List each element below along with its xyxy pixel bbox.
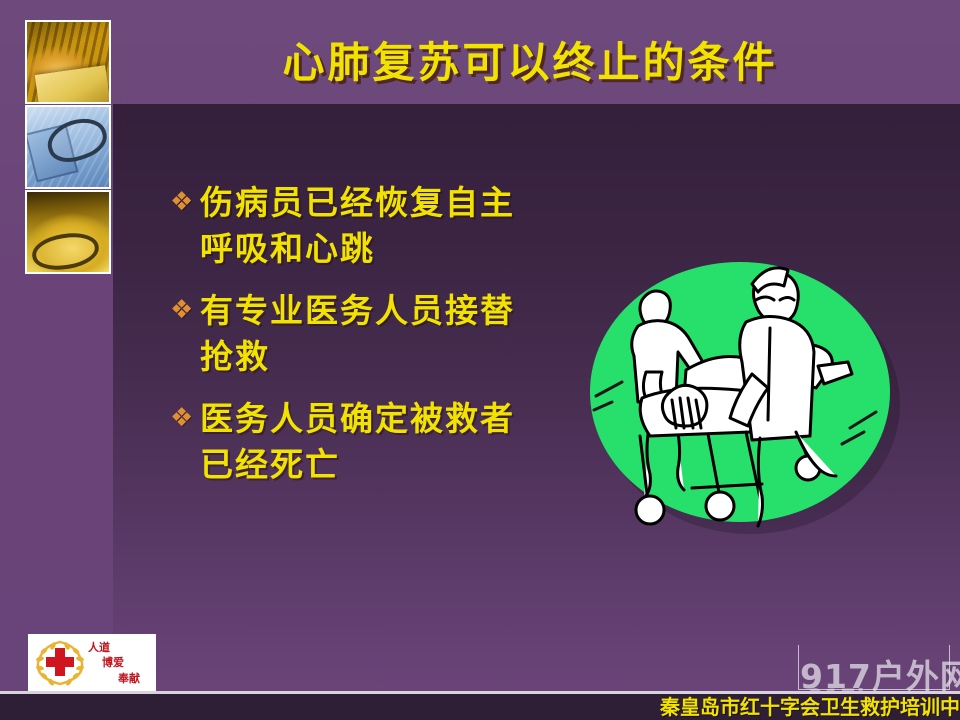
slide-title: 心肺复苏可以终止的条件 bbox=[130, 40, 930, 86]
red-cross-society-logo: 人道 博爱 奉献 bbox=[28, 634, 156, 692]
calculator-glasses-photo bbox=[27, 107, 109, 187]
list-item: ❖ 伤病员已经恢复自主呼吸和心跳 bbox=[170, 180, 530, 272]
logo-motto-line-1: 人道 bbox=[88, 642, 110, 653]
presentation-slide: 心肺复苏可以终止的条件 ❖ 伤病员已经恢复自主呼吸和心跳 ❖ 有专业医务人员接替… bbox=[0, 0, 960, 720]
medics-pushing-gurney-illustration bbox=[580, 248, 900, 538]
logo-motto-line-3: 奉献 bbox=[118, 673, 140, 684]
bullet-text: 伤病员已经恢复自主呼吸和心跳 bbox=[200, 180, 530, 272]
logo-motto-line-2: 博爱 bbox=[102, 657, 124, 668]
gurney-figures-drawing bbox=[580, 248, 900, 538]
diamond-bullet-icon: ❖ bbox=[170, 396, 200, 440]
thumbnail-writing-hand bbox=[25, 190, 111, 274]
diamond-bullet-icon: ❖ bbox=[170, 180, 200, 224]
logo-motto: 人道 博爱 奉献 bbox=[86, 640, 154, 688]
diamond-bullet-icon: ❖ bbox=[170, 288, 200, 332]
list-item: ❖ 有专业医务人员接替抢救 bbox=[170, 288, 530, 380]
thumbnail-keyboard-hands bbox=[25, 20, 111, 104]
thumbnail-calculator-glasses bbox=[25, 105, 111, 189]
list-item: ❖ 医务人员确定被救者已经死亡 bbox=[170, 396, 530, 488]
bullet-text: 医务人员确定被救者已经死亡 bbox=[200, 396, 530, 488]
writing-hand-glasses-photo bbox=[27, 192, 109, 272]
bullet-list: ❖ 伤病员已经恢复自主呼吸和心跳 ❖ 有专业医务人员接替抢救 ❖ 医务人员确定被… bbox=[170, 180, 530, 504]
red-cross-wreath-icon bbox=[32, 638, 88, 688]
bullet-text: 有专业医务人员接替抢救 bbox=[200, 288, 530, 380]
keyboard-hands-photo bbox=[27, 22, 109, 102]
footer-caption: 秦皇岛市红十字会卫生救护培训中心 bbox=[660, 691, 960, 720]
